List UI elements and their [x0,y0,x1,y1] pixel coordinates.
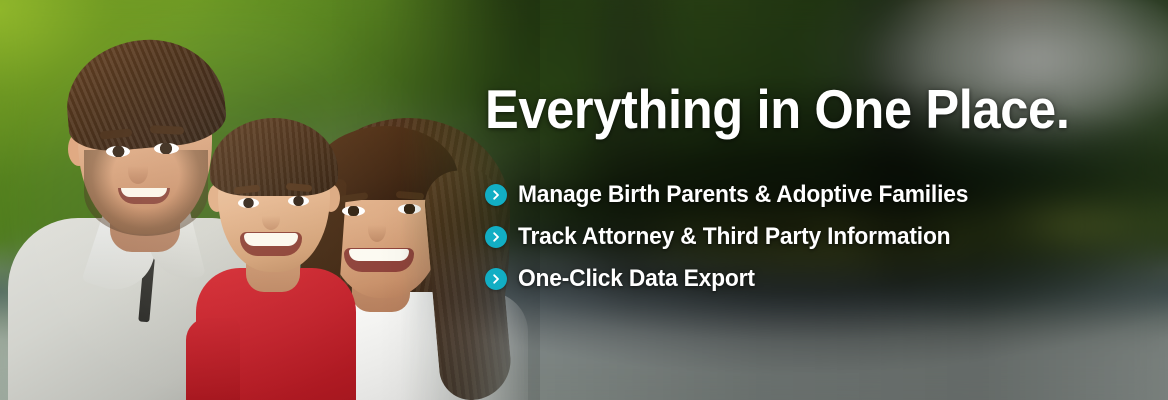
woman-nose [368,216,386,242]
boy-nose [262,208,280,230]
feature-label: Track Attorney & Third Party Information [518,222,950,252]
woman-eye-left [342,206,365,216]
woman-eye-right [398,204,421,214]
list-item: One-Click Data Export [485,258,1105,300]
woman-mouth [344,248,414,272]
boy-eye-right [288,196,309,206]
chevron-right-circle-icon [485,184,507,206]
chevron-right-circle-icon [485,226,507,248]
hero-headline: Everything in One Place. [485,78,1055,140]
man-mouth [118,188,170,204]
man-eye-right [154,143,179,154]
family-photo-mask [0,0,540,400]
boy-hair [210,118,338,196]
chevron-right-circle-icon [485,268,507,290]
boy-teeth [244,233,298,246]
hero-banner: Everything in One Place. Manage Birth Pa… [0,0,1168,400]
hero-copy: Everything in One Place. Manage Birth Pa… [485,78,1105,300]
woman-teeth [349,249,409,261]
man-eyebrow-right [150,125,184,135]
list-item: Manage Birth Parents & Adoptive Families [485,174,1105,216]
feature-label: Manage Birth Parents & Adoptive Families [518,180,968,210]
family-photo [0,0,540,400]
list-item: Track Attorney & Third Party Information [485,216,1105,258]
boy-eye-left [238,198,259,208]
man-nose [128,158,148,184]
boy-mouth [240,232,302,256]
feature-label: One-Click Data Export [518,264,755,294]
man-hair [62,33,229,154]
boy-sleeve [186,318,240,400]
feature-list: Manage Birth Parents & Adoptive Families… [485,174,1105,300]
man-eye-left [106,146,130,157]
man-teeth [121,188,167,197]
